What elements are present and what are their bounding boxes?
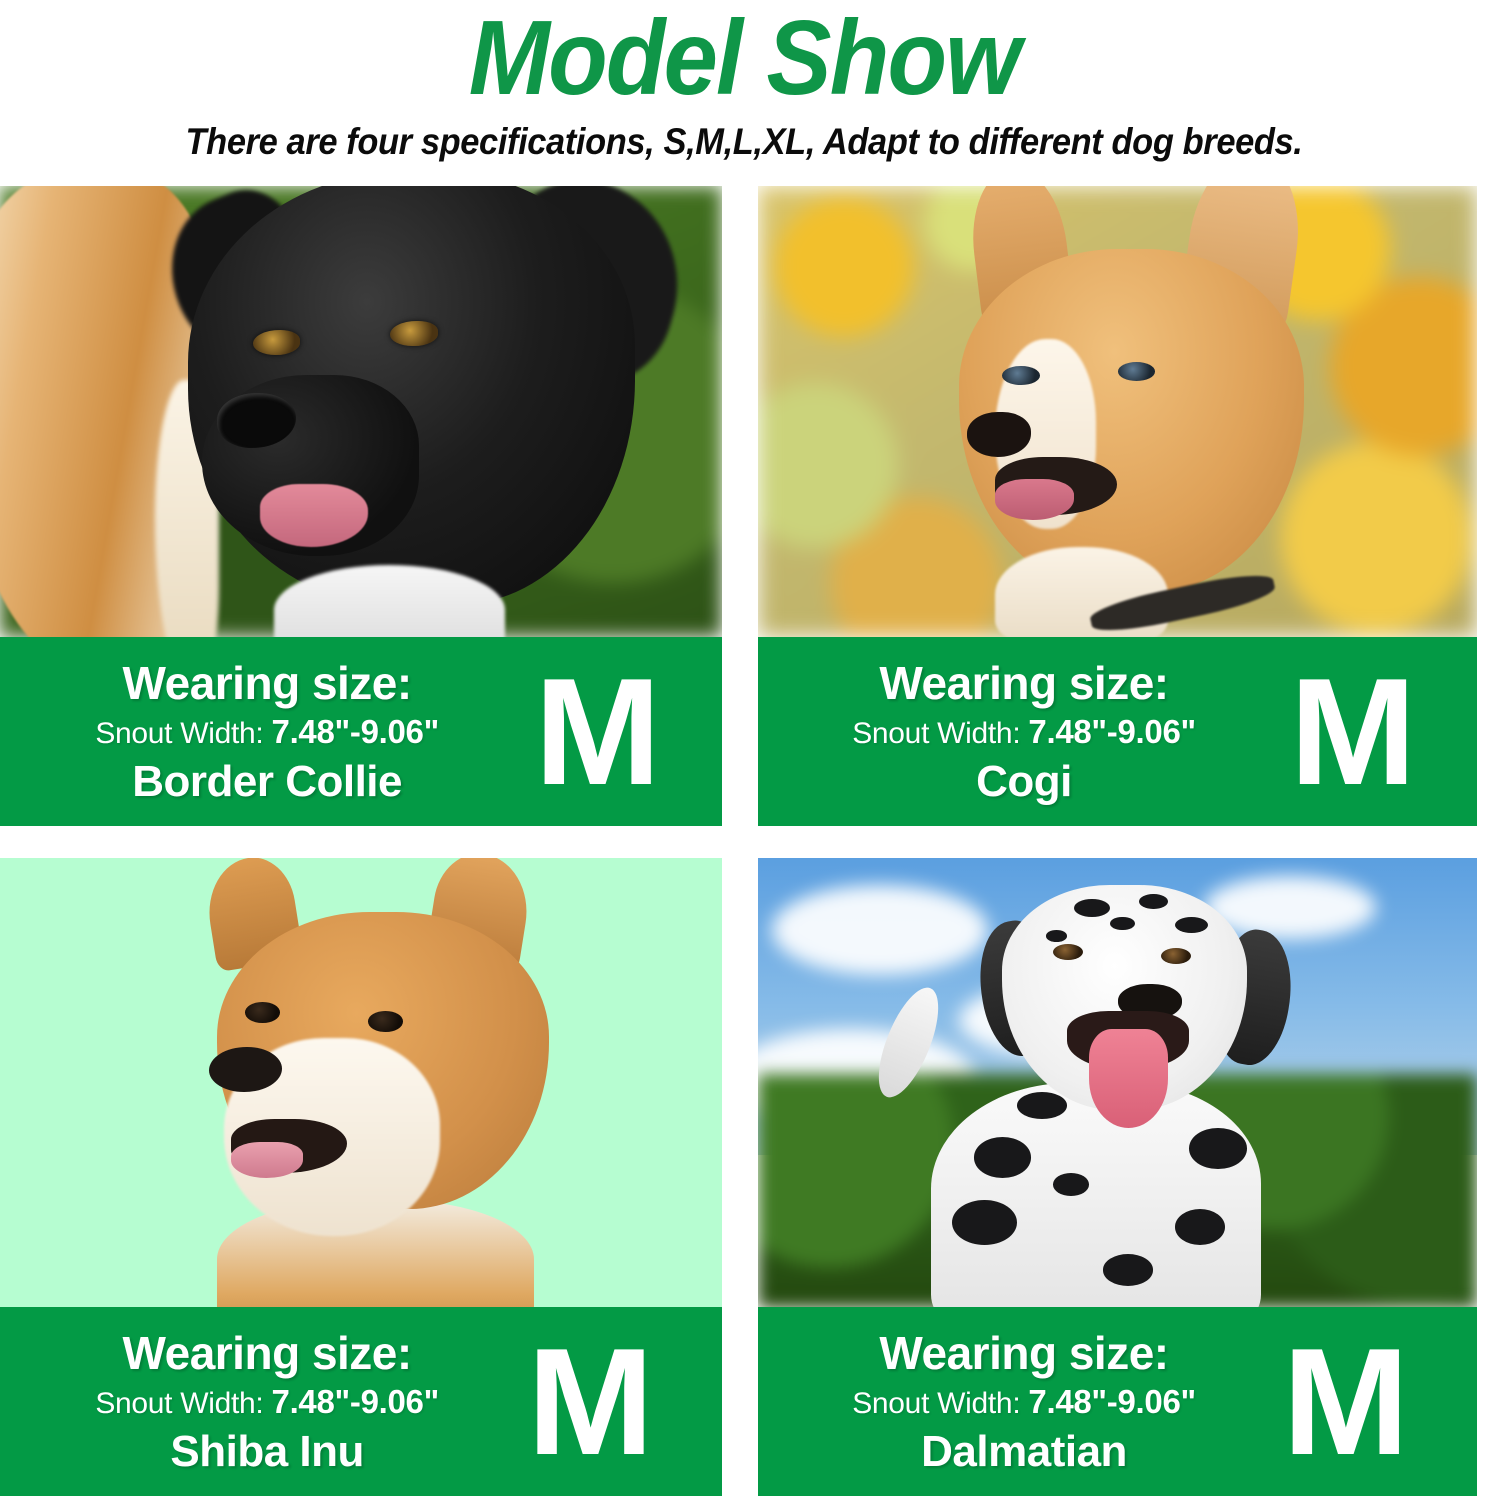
snout-width-label: Snout Width: [95,1387,263,1420]
header: Model Show There are four specifications… [0,0,1488,182]
size-info-bar: Wearing size: Snout Width: 7.48"-9.06" D… [758,1307,1477,1496]
wearing-size-label: Wearing size: [123,1326,412,1380]
corgi-nose [967,412,1032,457]
dalmatian-spot [1017,1092,1067,1119]
snout-width-value: 7.48"-9.06" [272,1383,439,1420]
dalmatian-spot [1103,1254,1153,1286]
wearing-size-label: Wearing size: [879,656,1168,710]
dog-eye-right [390,321,438,345]
size-info-bar: Wearing size: Snout Width: 7.48"-9.06" C… [758,637,1477,826]
snout-width-label: Snout Width: [95,717,263,750]
shiba-eye-left [245,1002,280,1023]
snout-width-line: Snout Width: 7.48"-9.06" [95,1380,439,1426]
page-title: Model Show [60,2,1429,114]
corgi-eye-right [1118,362,1155,381]
dalmatian-body [931,1083,1262,1308]
dalmatian-spot [952,1200,1017,1245]
page-subtitle: There are four specifications, S,M,L,XL,… [52,120,1436,164]
snout-width-value: 7.48"-9.06" [1028,1383,1195,1420]
size-badge: M [1282,1332,1405,1472]
breed-card-border-collie: Wearing size: Snout Width: 7.48"-9.06" B… [0,186,722,826]
snout-width-line: Snout Width: 7.48"-9.06" [852,710,1196,756]
dog-eye-left [253,330,301,354]
dalmatian-spot [1074,899,1110,917]
model-show-infographic: Model Show There are four specifications… [0,0,1488,1500]
breed-photo-shiba-inu [0,858,722,1308]
size-badge: M [534,662,657,802]
breed-card-grid: Wearing size: Snout Width: 7.48"-9.06" B… [0,186,1488,1496]
dalmatian-tongue [1089,1029,1168,1128]
dalmatian-eye-right [1161,948,1191,964]
breed-photo-cogi [758,186,1477,637]
snout-width-label: Snout Width: [852,717,1020,750]
shiba-eye-right [368,1011,403,1032]
snout-width-line: Snout Width: 7.48"-9.06" [852,1380,1196,1426]
dalmatian-spot [1053,1173,1089,1196]
size-badge: M [1290,662,1413,802]
dalmatian-spot [1189,1128,1247,1169]
shiba-nose [209,1047,281,1092]
dalmatian-spot [1110,917,1134,931]
wearing-size-label: Wearing size: [879,1326,1168,1380]
dalmatian-spot [974,1137,1032,1178]
size-info-bar: Wearing size: Snout Width: 7.48"-9.06" B… [0,637,722,826]
breed-name: Dalmatian [921,1426,1127,1478]
wearing-size-label: Wearing size: [123,656,412,710]
snout-width-label: Snout Width: [852,1387,1020,1420]
breed-card-dalmatian: Wearing size: Snout Width: 7.48"-9.06" D… [758,858,1477,1496]
breed-card-cogi: Wearing size: Snout Width: 7.48"-9.06" C… [758,186,1477,826]
breed-name: Border Collie [132,756,402,808]
dalmatian-spot [1175,1209,1225,1245]
dalmatian-spot [1175,917,1208,933]
breed-card-shiba-inu: Wearing size: Snout Width: 7.48"-9.06" S… [0,858,722,1496]
breed-name: Shiba Inu [170,1426,364,1478]
breed-name: Cogi [976,756,1072,808]
size-info-bar: Wearing size: Snout Width: 7.48"-9.06" S… [0,1307,722,1496]
dalmatian-eye-left [1053,944,1083,960]
size-badge: M [527,1332,650,1472]
dalmatian-spot [1046,930,1068,942]
cloud [772,885,988,975]
breed-photo-dalmatian [758,858,1477,1308]
snout-width-value: 7.48"-9.06" [1028,713,1195,750]
snout-width-value: 7.48"-9.06" [272,713,439,750]
snout-width-line: Snout Width: 7.48"-9.06" [95,710,439,756]
breed-photo-border-collie [0,186,722,637]
shiba-tongue [231,1142,303,1178]
